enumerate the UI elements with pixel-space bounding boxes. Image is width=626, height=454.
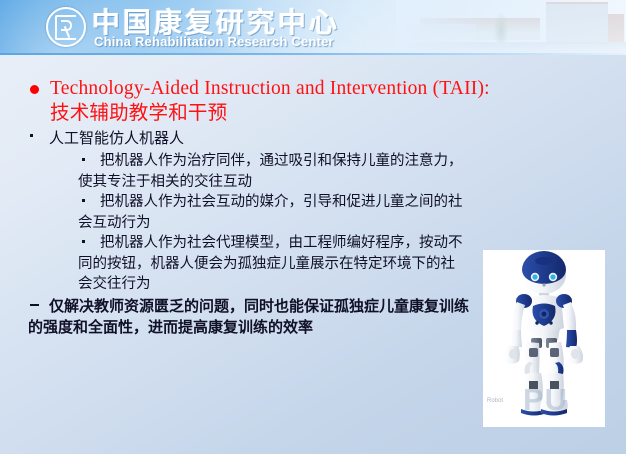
crrc-logo-icon — [46, 7, 86, 47]
nao-robot-image: PU Robot — [483, 250, 605, 427]
bullet-dash-item-1: 仅解决教师资源匮乏的问题，同时也能保证孤独症儿童康复训练的强度和全面性，进而提高… — [28, 296, 473, 338]
bullet-level3-item-2: 把机器人作为社会互动的媒介，引导和促进儿童之间的社会互动行为 — [78, 192, 463, 233]
bullet-level3-item-1: 把机器人作为治疗同伴，通过吸引和保持儿童的注意力，使其专注于相关的交往互动 — [78, 151, 463, 192]
bullet-text: 把机器人作为社会代理模型，由工程师编好程序，按动不同的按钮，机器人便会为孤独症儿… — [78, 235, 463, 292]
slide-title: Technology-Aided Instruction and Interve… — [50, 76, 498, 126]
image-watermark: PU — [523, 382, 568, 418]
bullet-level2-item-1: 人工智能仿人机器人 — [28, 128, 468, 148]
bullet-dot-icon — [82, 199, 85, 202]
title-bullet-icon — [30, 85, 39, 94]
bullet-dot-icon — [82, 158, 85, 161]
bullet-text: 人工智能仿人机器人 — [49, 129, 184, 147]
presentation-slide: 中国康复研究中心 China Rehabilitation Research C… — [0, 0, 626, 454]
bullet-text: 仅解决教师资源匮乏的问题，同时也能保证孤独症儿童康复训练的强度和全面性，进而提高… — [28, 297, 469, 336]
image-watermark-small: Robot — [487, 398, 503, 404]
org-name-english: China Rehabilitation Research Center — [94, 34, 334, 49]
bullet-text: 把机器人作为社会互动的媒介，引导和促进儿童之间的社会互动行为 — [78, 194, 463, 231]
bullet-level3-item-3: 把机器人作为社会代理模型，由工程师编好程序，按动不同的按钮，机器人便会为孤独症儿… — [78, 233, 463, 295]
bullet-text: 把机器人作为治疗同伴，通过吸引和保持儿童的注意力，使其专注于相关的交往互动 — [78, 153, 463, 190]
slide-title-block: Technology-Aided Instruction and Interve… — [28, 76, 498, 126]
bullet-dot-icon — [30, 134, 33, 137]
bullet-dot-icon — [82, 240, 85, 243]
slide-header-banner: 中国康复研究中心 China Rehabilitation Research C… — [0, 0, 626, 55]
bullet-dash-icon — [30, 304, 39, 306]
header-photo-fade-overlay — [396, 0, 626, 55]
